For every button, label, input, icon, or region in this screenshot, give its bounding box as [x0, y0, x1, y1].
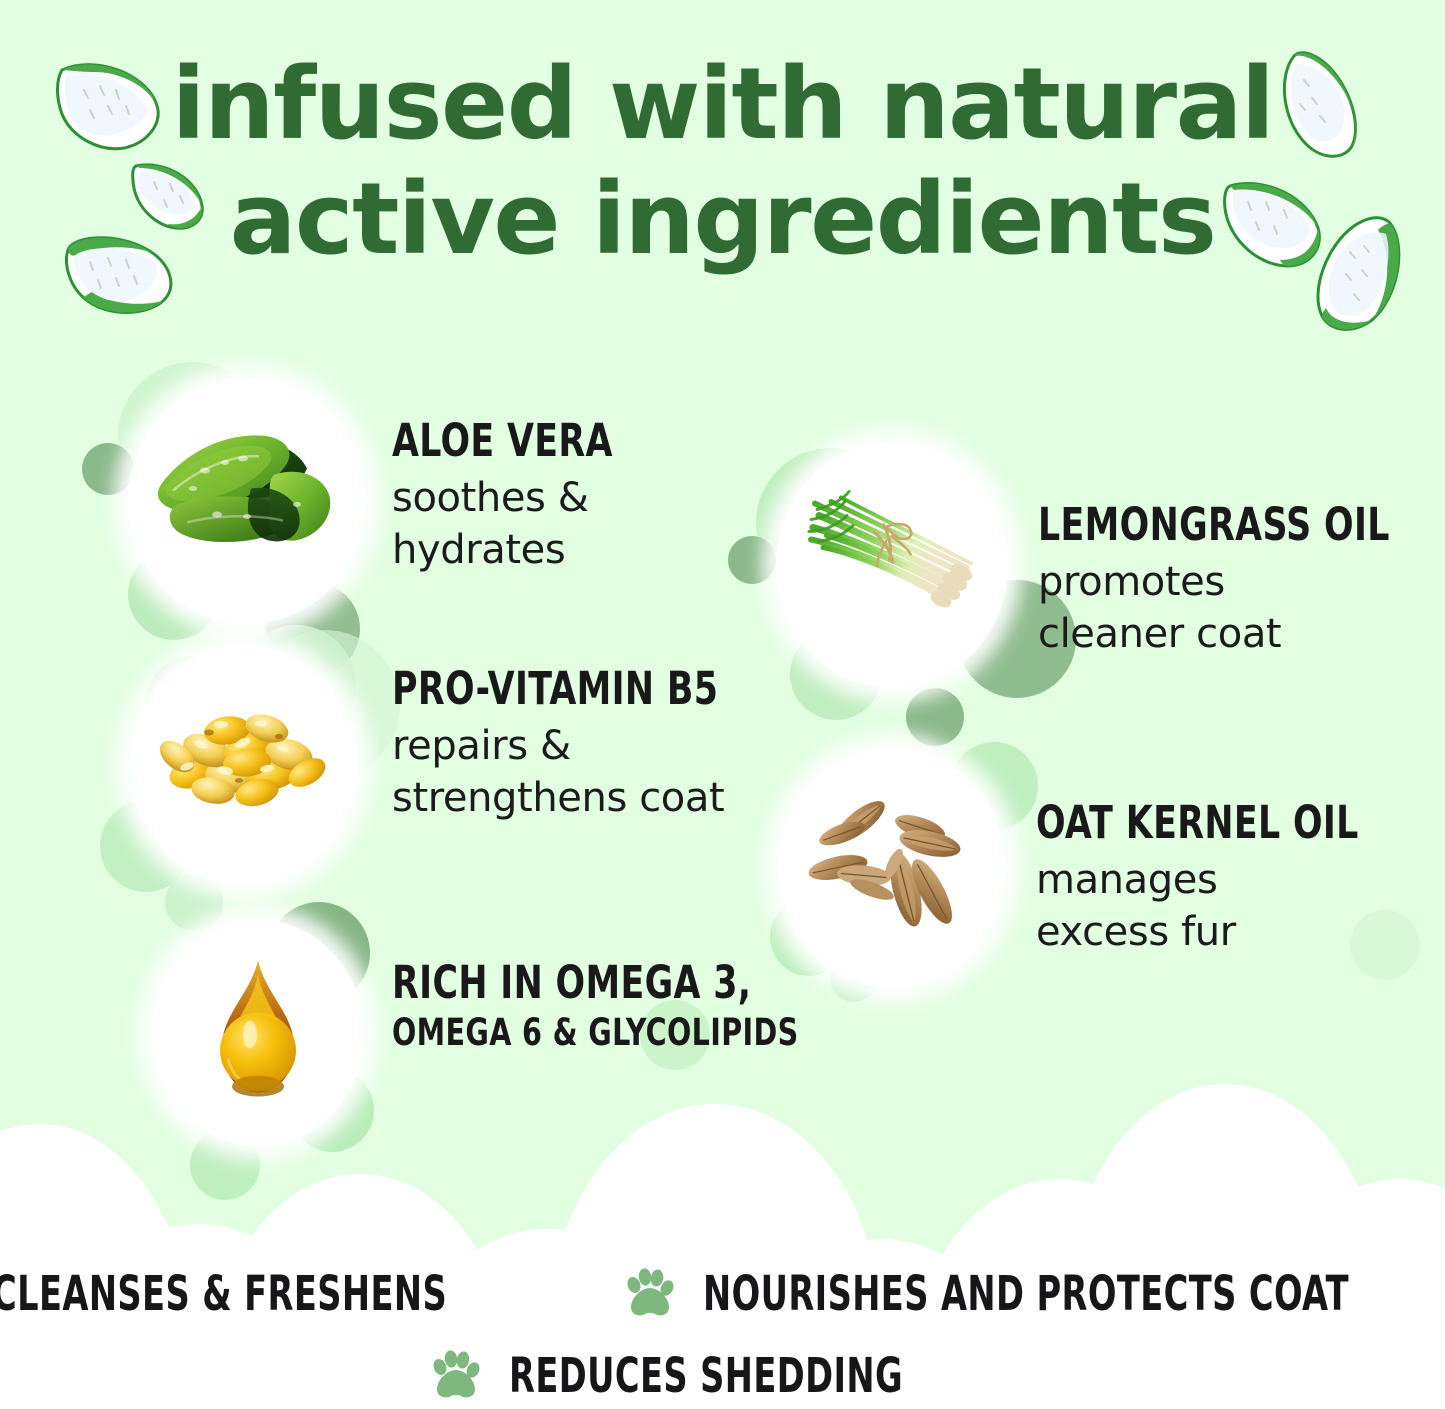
paw-print-icon [431, 1350, 481, 1402]
benefits-row-2: REDUCES SHEDDING [0, 1350, 1445, 1402]
aloe-leaves-photo [147, 419, 347, 584]
ingredient-subtitle-line-2: cleaner coat [1038, 609, 1445, 659]
ingredient-image-pro-vitamin-b5 [130, 645, 358, 885]
ingredient-subtitle-line-2: hydrates [392, 525, 649, 575]
benefit-nourishes-protects: NOURISHES AND PROTECTS COAT [625, 1268, 1445, 1320]
decor-circle-mid [906, 688, 964, 746]
paw-print-icon [625, 1268, 675, 1320]
heading-line-2: active ingredients [0, 163, 1445, 278]
ingredient-image-oat-kernel-oil [778, 748, 1006, 988]
ingredient-title: RICH IN OMEGA 3, [392, 960, 799, 1005]
benefit-label: REDUCES SHEDDING [509, 1352, 903, 1400]
decor-circle-light [165, 873, 223, 931]
ingredient-text-oat-kernel-oil: OAT KERNEL OIL manages excess fur [1036, 800, 1411, 958]
softgel-capsules-photo [149, 703, 339, 828]
benefit-cleanses-freshens: CLEANSES & FRESHENS [0, 1268, 575, 1320]
heading-line-1: infused with natural [172, 47, 1274, 162]
ingredient-subtitle-line-2: excess fur [1036, 907, 1411, 957]
ingredient-title: OAT KERNEL OIL [1036, 800, 1359, 845]
ingredient-subtitle-line-1: repairs & [392, 721, 771, 771]
infographic-canvas: infused with natural active ingredients [0, 0, 1445, 1409]
decor-circle-mid [728, 536, 776, 584]
benefit-reduces-shedding: REDUCES SHEDDING [431, 1350, 1014, 1402]
ingredient-title: ALOE VERA [392, 418, 613, 463]
benefits-row-1: CLEANSES & FRESHENS NOURISHES AND PROTEC… [0, 1268, 1445, 1320]
ingredient-text-pro-vitamin-b5: PRO-VITAMIN B5 repairs & strengthens coa… [392, 666, 771, 824]
ingredient-subtitle-line-2: strengthens coat [392, 773, 771, 823]
ingredient-subtitle-line-1: soothes & [392, 473, 649, 523]
ingredient-subtitle-line-1: manages [1036, 855, 1411, 905]
decor-circle-mid [82, 443, 134, 495]
ingredient-subtitle-line-1: promotes [1038, 557, 1445, 607]
ingredient-image-lemongrass-oil [776, 442, 1008, 688]
ingredient-text-aloe-vera: ALOE VERA soothes & hydrates [392, 418, 649, 576]
benefit-label: CLEANSES & FRESHENS [0, 1270, 447, 1318]
oat-kernels-photo [802, 786, 982, 951]
page-title: infused with natural active ingredients [0, 48, 1445, 278]
ingredient-text-lemongrass-oil: LEMONGRASS OIL promotes cleaner coat [1038, 502, 1445, 660]
ingredient-title: PRO-VITAMIN B5 [392, 666, 718, 711]
ingredient-title: LEMONGRASS OIL [1038, 502, 1390, 547]
lemongrass-bundle-photo [797, 488, 987, 643]
ingredient-image-aloe-vera [128, 378, 366, 624]
benefit-label: NOURISHES AND PROTECTS COAT [703, 1270, 1349, 1318]
